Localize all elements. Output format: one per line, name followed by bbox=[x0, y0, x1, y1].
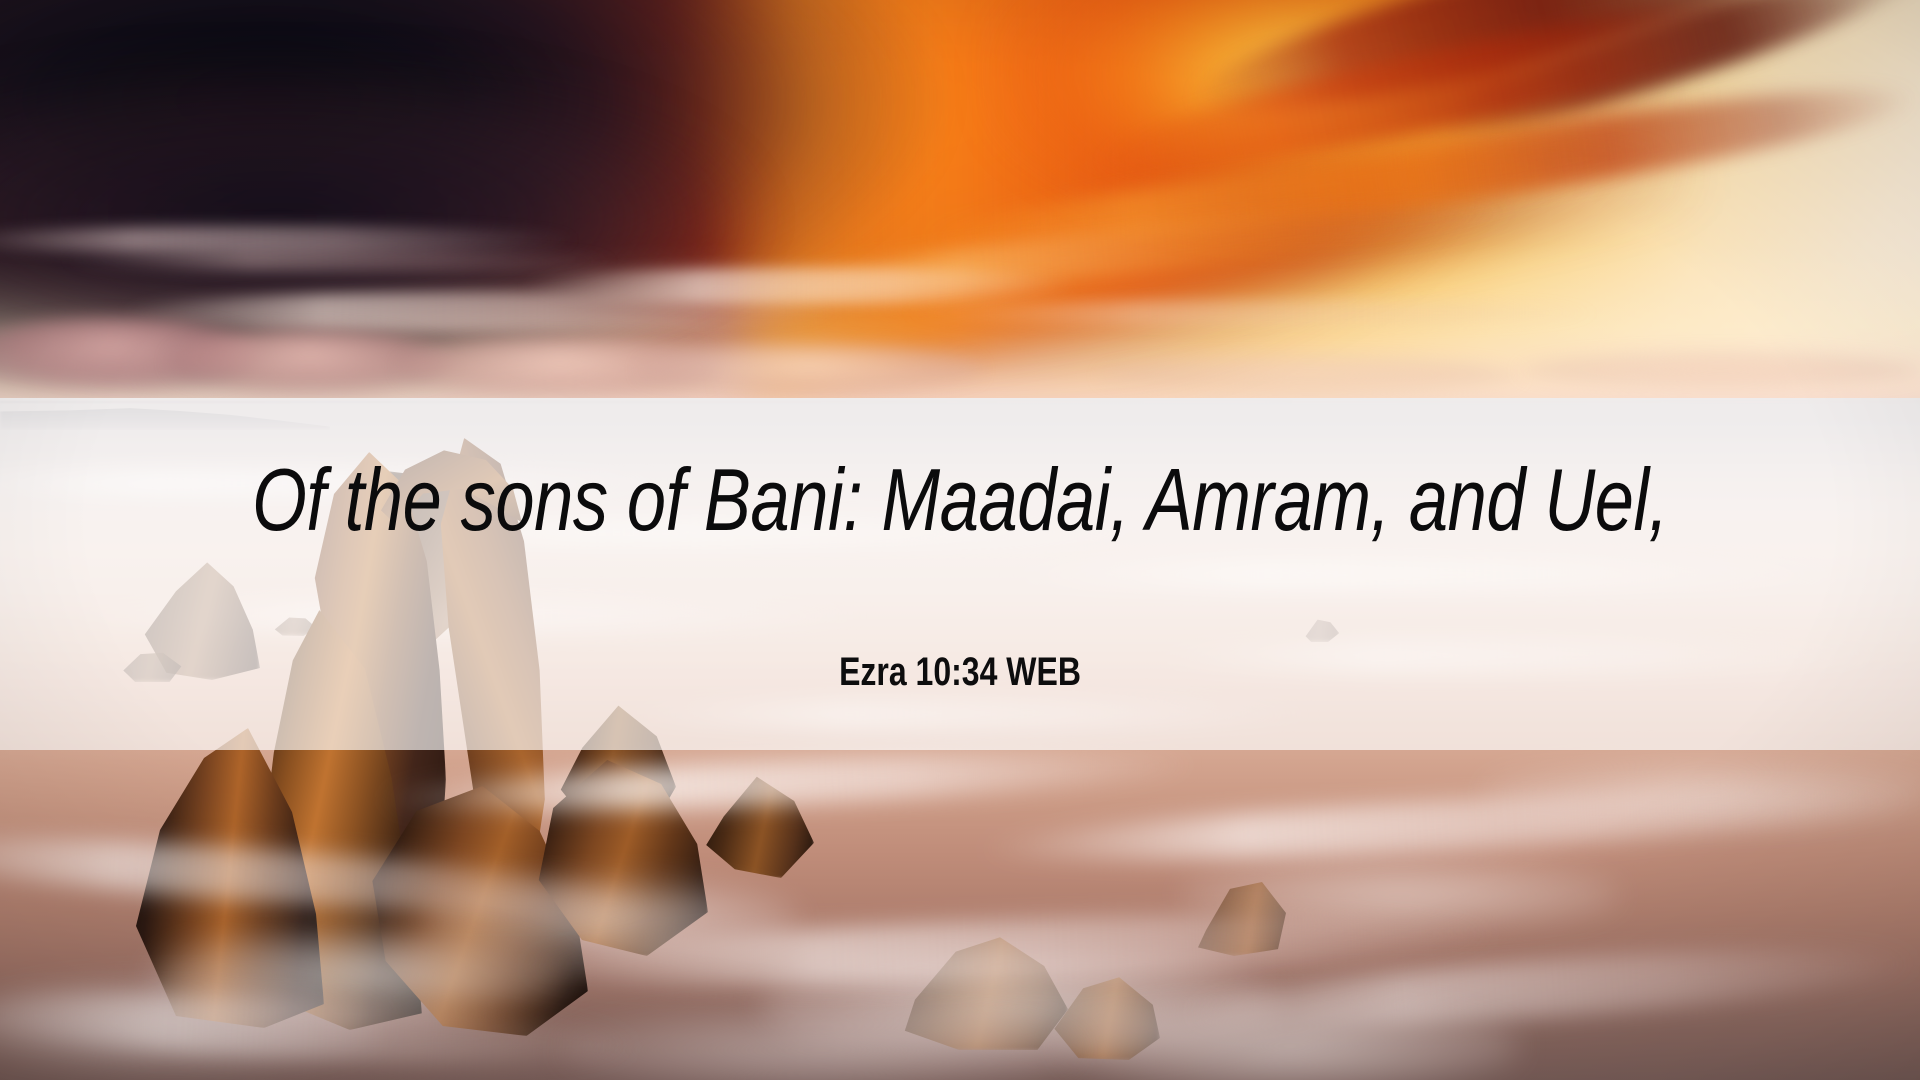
cirrus-wisp-icon bbox=[520, 268, 1080, 304]
low-cumulus-cloud-icon bbox=[640, 344, 980, 394]
low-cumulus-cloud-icon bbox=[1100, 358, 1520, 392]
verse-image-canvas: Of the sons of Bani: Maadai, Amram, and … bbox=[0, 0, 1920, 1080]
cirrus-wisp-icon bbox=[60, 250, 620, 272]
verse-text: Of the sons of Bani: Maadai, Amram, and … bbox=[192, 452, 1728, 547]
low-cumulus-cloud-icon bbox=[1520, 352, 1920, 388]
cirrus-wisp-icon bbox=[900, 300, 1600, 326]
verse-reference: Ezra 10:34 WEB bbox=[192, 650, 1728, 695]
